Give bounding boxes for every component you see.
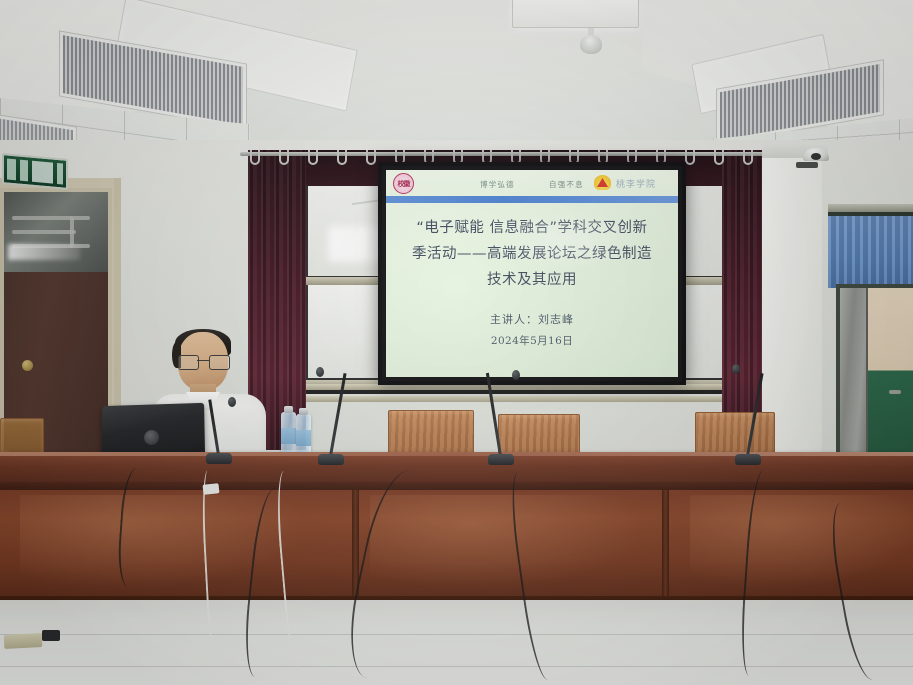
slide-title-line-3: 技术及其应用 <box>396 267 668 293</box>
slide-motto-left: 博学弘德 <box>480 179 515 190</box>
right-door-handle-icon[interactable] <box>889 390 901 394</box>
floor-plug <box>42 630 60 641</box>
university-seal-icon: 校徽 <box>393 173 414 194</box>
curtain-hook-icon <box>337 150 347 165</box>
slide-accent-bar <box>386 196 678 203</box>
slide-title: “电子赋能 信息融合”学科交叉创新 季活动——高端发展论坛之绿色制造 技术及其应… <box>396 215 668 293</box>
slide-presenter: 主讲人：刘志峰 <box>490 311 574 327</box>
floor <box>0 600 913 685</box>
slide-motto-right: 自强不息 <box>549 179 584 190</box>
curtain-hook-icon <box>250 150 260 165</box>
door-transom-window <box>0 188 112 276</box>
exit-sign <box>2 153 68 190</box>
power-strip <box>4 633 43 649</box>
slide-title-line-2: 季活动——高端发展论坛之绿色制造 <box>396 241 668 267</box>
ceiling-lamp-panel <box>512 0 639 28</box>
university-emblem-icon <box>594 175 611 190</box>
smoke-detector-icon <box>578 28 604 54</box>
curtain-hook-icon <box>308 150 318 165</box>
slide-date: 2024年5月16日 <box>491 333 573 348</box>
curtain-hook-icon <box>743 150 753 165</box>
table-panel-seam <box>662 490 669 602</box>
projection-screen: 校徽 博学弘德 自强不息 桃李学院 “电子赋能 信息融合”学科交叉创新 季活动—… <box>378 162 686 385</box>
curtain-hook-icon <box>279 150 289 165</box>
gooseneck-microphone <box>488 372 516 465</box>
curtain-hook-icon <box>714 150 724 165</box>
presentation-slide: 校徽 博学弘德 自强不息 桃李学院 “电子赋能 信息融合”学科交叉创新 季活动—… <box>386 170 678 377</box>
eyeglasses-icon <box>178 355 228 368</box>
gooseneck-microphone <box>735 368 763 465</box>
gooseneck-microphone-presenter <box>206 398 232 464</box>
security-camera-icon <box>803 148 829 164</box>
blue-window-curtain <box>828 212 913 288</box>
slide-header: 校徽 博学弘德 自强不息 桃李学院 <box>386 170 678 196</box>
gooseneck-microphone <box>318 370 346 465</box>
slide-university-name: 桃李学院 <box>616 177 656 190</box>
water-bottle <box>281 412 296 456</box>
slide-body: “电子赋能 信息融合”学科交叉创新 季活动——高端发展论坛之绿色制造 技术及其应… <box>386 203 678 377</box>
door-knob-icon[interactable] <box>22 360 33 371</box>
conference-table-highlight <box>0 452 913 456</box>
slide-title-line-1: “电子赋能 信息融合”学科交叉创新 <box>396 215 668 241</box>
curtain-hook-icon <box>366 150 376 165</box>
lecture-hall-photo: 校徽 博学弘德 自强不息 桃李学院 “电子赋能 信息融合”学科交叉创新 季活动—… <box>0 0 913 685</box>
curtain-hook-icon <box>685 150 695 165</box>
wall-trim-lower <box>290 396 745 402</box>
